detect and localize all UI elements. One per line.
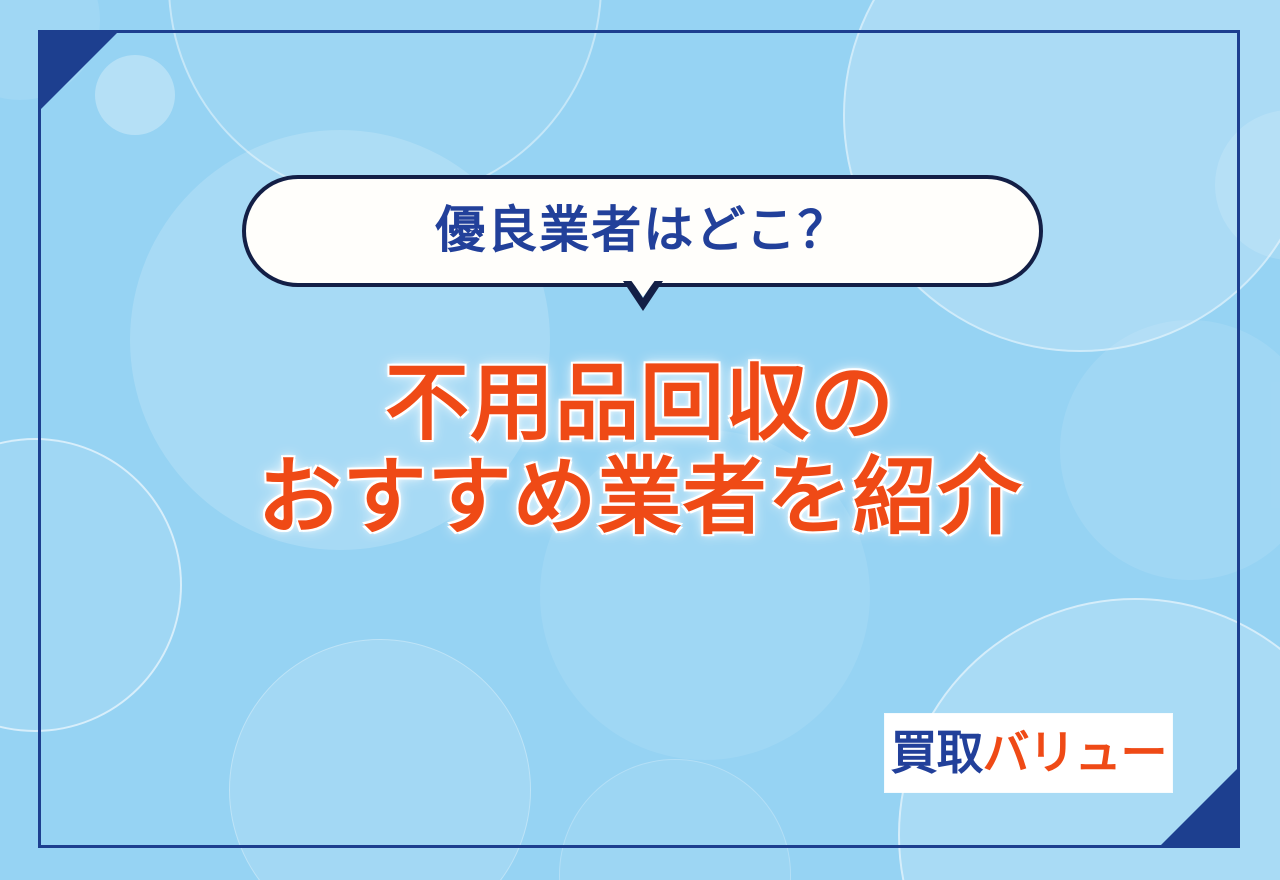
page-title-line-2: おすすめ業者を紹介 <box>0 450 1280 544</box>
brand-logo[interactable]: 買取 バリュー <box>885 714 1172 792</box>
speech-bubble-tail-icon <box>620 281 666 315</box>
decorative-circle <box>230 640 530 880</box>
speech-bubble: 優良業者はどこ？ <box>242 175 1043 287</box>
page-title: 不用品回収の おすすめ業者を紹介 <box>0 356 1280 544</box>
triangle-corner-icon <box>38 30 120 112</box>
brand-logo-part-1: 買取 <box>891 730 983 777</box>
speech-bubble-label: 優良業者はどこ？ <box>435 205 850 255</box>
speech-bubble-body: 優良業者はどこ？ <box>242 175 1043 287</box>
page-title-line-1: 不用品回収の <box>0 356 1280 450</box>
decorative-circle <box>560 760 790 880</box>
brand-logo-part-2: バリュー <box>983 730 1167 777</box>
promo-banner: 優良業者はどこ？ 不用品回収の おすすめ業者を紹介 買取 バリュー <box>0 0 1280 880</box>
